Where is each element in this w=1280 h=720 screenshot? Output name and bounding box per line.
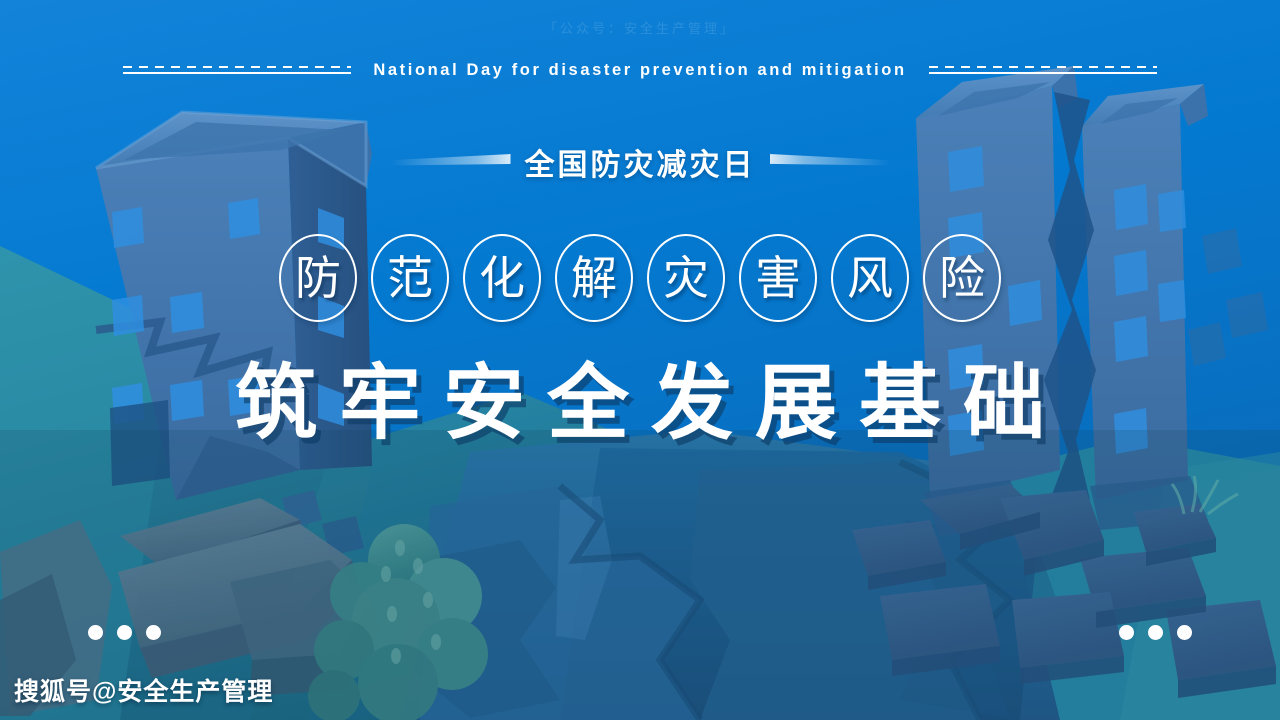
circled-char-5: 灾 <box>647 234 725 322</box>
bottom-watermark: 搜狐号@安全生产管理 <box>14 672 273 708</box>
english-subtitle-row: National Day for disaster prevention and… <box>0 56 1280 84</box>
circled-char-6: 害 <box>739 234 817 322</box>
main-headline: 筑牢安全发展基础 <box>0 340 1280 450</box>
english-subtitle: National Day for disaster prevention and… <box>373 61 906 80</box>
dot-decoration-right <box>1119 625 1192 640</box>
circled-char-7: 风 <box>831 234 909 322</box>
circled-char-8: 险 <box>923 234 1001 322</box>
circled-characters-row: 防 范 化 解 灾 害 风 险 <box>0 232 1280 324</box>
dot-decoration-left <box>88 625 161 640</box>
circled-char-3: 化 <box>463 234 541 322</box>
circled-char-1: 防 <box>279 234 357 322</box>
band-title: 全国防灾减灾日 <box>525 140 756 184</box>
ribbon-right <box>770 154 890 170</box>
circled-char-2: 范 <box>371 234 449 322</box>
dashed-rule-right <box>929 66 1157 75</box>
ribbon-left <box>391 154 511 170</box>
poster-canvas: 「公众号：安全生产管理」 National Day for disaster p… <box>0 0 1280 720</box>
circled-char-4: 解 <box>555 234 633 322</box>
band-title-row: 全国防灾减灾日 <box>0 138 1280 186</box>
top-watermark: 「公众号：安全生产管理」 <box>0 18 1280 37</box>
dashed-rule-left <box>123 66 351 75</box>
